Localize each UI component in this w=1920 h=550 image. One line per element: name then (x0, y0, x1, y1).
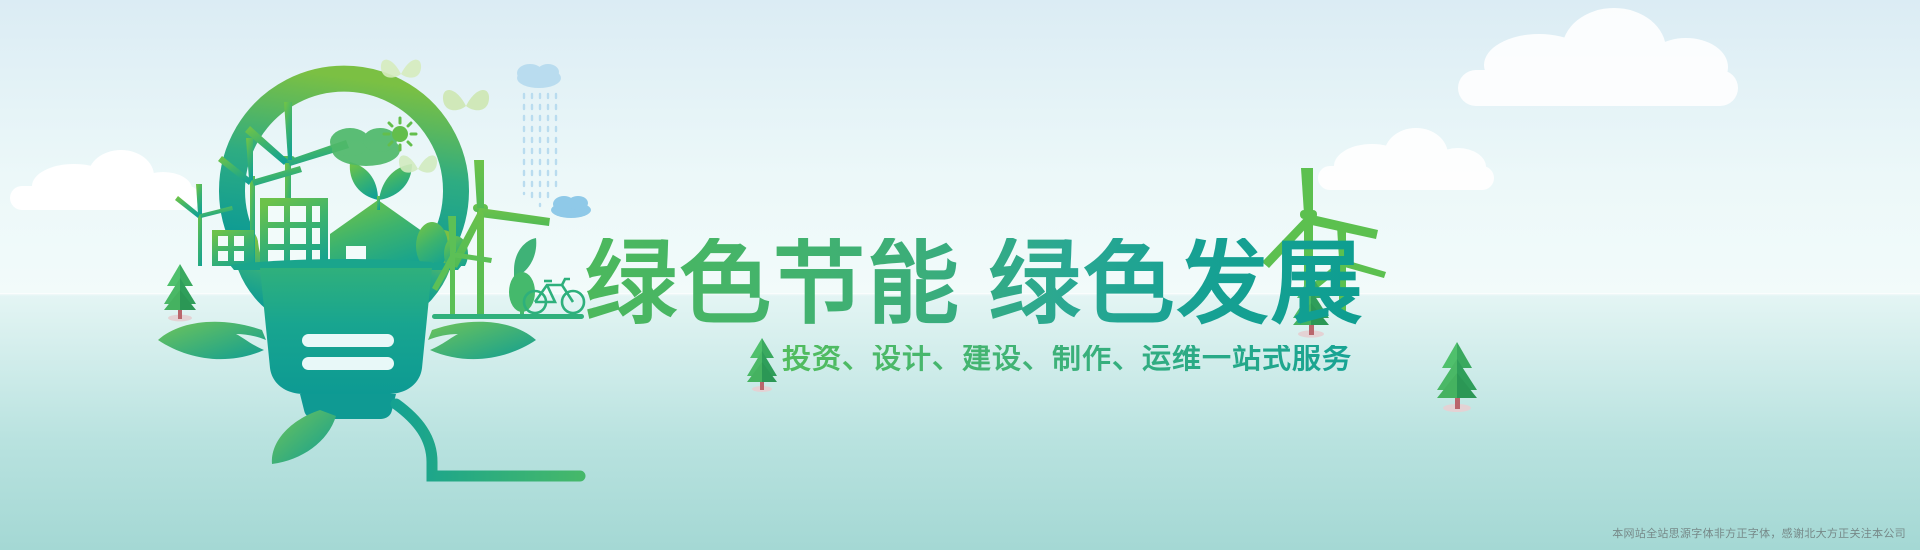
page-subtitle: 投资、设计、建设、制作、运维一站式服务 (782, 345, 1352, 374)
green-energy-banner: 绿色节能 绿色发展 投资、设计、建设、制作、运维一站式服务 本网站全站思源字体非… (0, 0, 1920, 550)
butterfly-icon-1 (378, 52, 424, 92)
butterfly-icon-2 (440, 82, 492, 126)
page-title: 绿色节能 绿色发展 (585, 238, 1365, 330)
cloud-shape (517, 64, 561, 88)
ground-line (432, 314, 584, 319)
pine-far-left-icon (162, 262, 198, 322)
pine-subtitle-icon (744, 336, 780, 392)
leaf-left-icon (158, 322, 266, 359)
font-credit-note: 本网站全站思源字体非方正字体，感谢北大方正关注本公司 (1612, 525, 1906, 541)
pine-right-icon (1434, 340, 1480, 412)
mid-leaf-icon (514, 238, 536, 278)
sun-icon (384, 118, 416, 150)
bicycle-icon (522, 275, 586, 315)
